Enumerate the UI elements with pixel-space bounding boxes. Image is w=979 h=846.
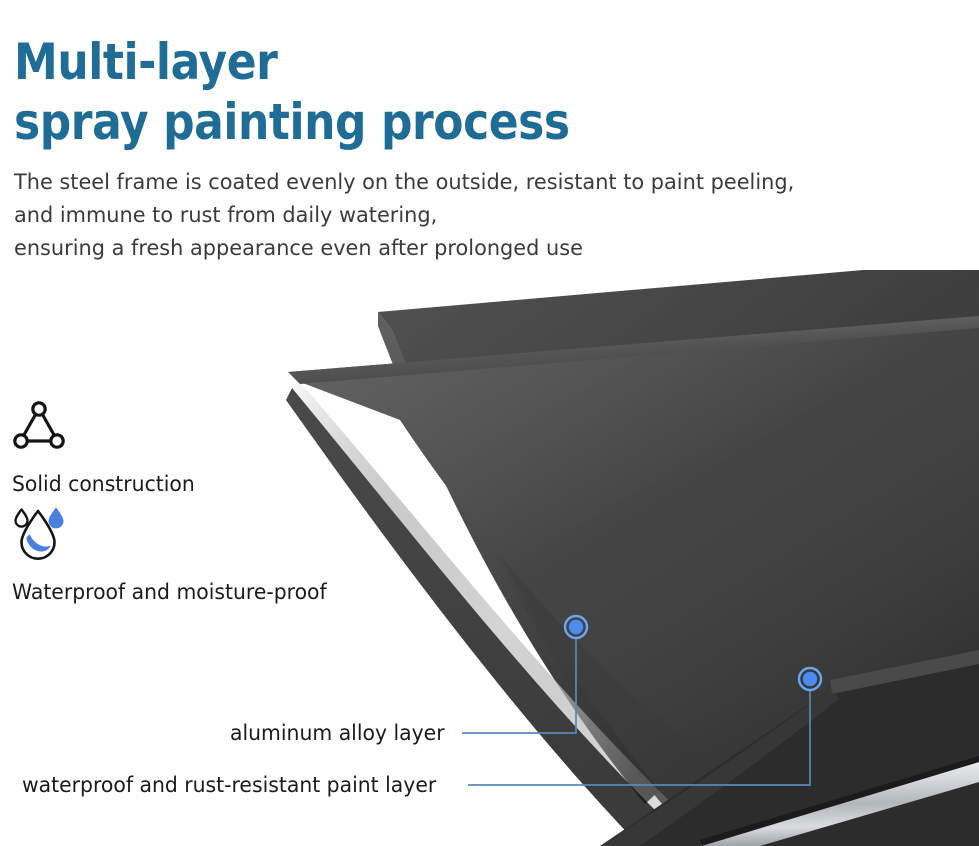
feature-waterproof: Waterproof and moisture-proof xyxy=(12,506,336,604)
headline-line-2: spray painting process xyxy=(14,92,630,152)
feature-solid-construction-label: Solid construction xyxy=(12,472,195,496)
headline-line-1: Multi-layer xyxy=(14,32,630,92)
infographic-canvas: Multi-layer spray painting process The s… xyxy=(0,0,979,846)
intro-line-1: The steel frame is coated evenly on the … xyxy=(14,166,887,199)
feature-solid-construction: Solid construction xyxy=(12,400,200,496)
page-title: Multi-layer spray painting process xyxy=(14,32,630,152)
triangle-nodes-icon xyxy=(12,400,200,458)
intro-line-3: ensuring a fresh appearance even after p… xyxy=(14,232,887,265)
water-droplets-icon xyxy=(12,506,336,568)
callout-label-aluminum-alloy-layer: aluminum alloy layer xyxy=(230,721,445,745)
feature-waterproof-label: Waterproof and moisture-proof xyxy=(12,580,327,604)
intro-paragraph: The steel frame is coated evenly on the … xyxy=(14,166,887,265)
intro-line-2: and immune to rust from daily watering, xyxy=(14,199,887,232)
callout-label-paint-layer: waterproof and rust-resistant paint laye… xyxy=(22,773,436,797)
